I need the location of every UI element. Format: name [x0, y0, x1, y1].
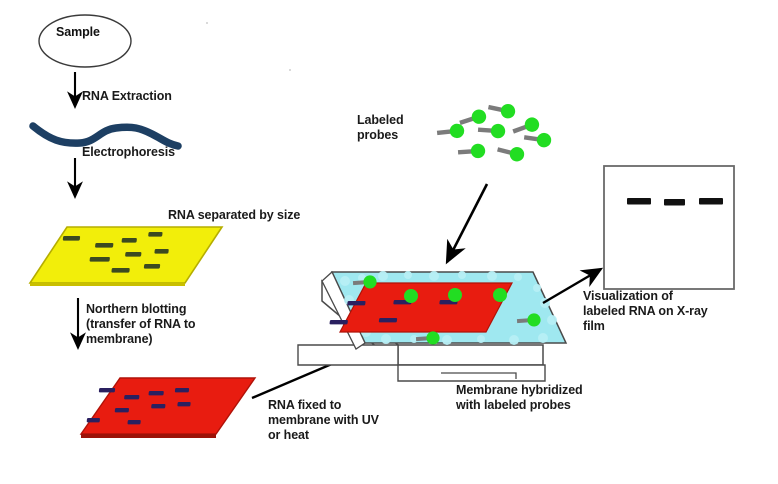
sample-label: Sample	[56, 25, 100, 40]
diagram-canvas: Sample RNA Extraction Electrophoresis RN…	[0, 0, 778, 484]
tray-membrane	[340, 283, 512, 332]
speckle-artifact	[289, 69, 291, 71]
rna-fixed-to-membrane-label: RNA fixed to membrane with UV or heat	[268, 398, 379, 442]
sample-ellipse-icon	[39, 15, 131, 67]
rna-strand-icon	[33, 126, 178, 146]
xray-film-bands	[627, 198, 723, 206]
labeled-probes-label: Labeled probes	[357, 113, 404, 143]
membrane-slab-icon	[81, 378, 255, 438]
speckle-artifact	[206, 22, 208, 24]
visualization-xray-label: Visualization of labeled RNA on X-ray fi…	[583, 289, 708, 333]
electrophoresis-label: Electrophoresis	[82, 145, 175, 160]
xray-film-icon	[604, 166, 734, 289]
northern-blotting-label: Northern blotting (transfer of RNA to me…	[86, 302, 195, 346]
membrane-hybridized-label: Membrane hybridized with labeled probes	[456, 383, 583, 413]
rna-extraction-label: RNA Extraction	[82, 89, 172, 104]
labeled-probes-icon	[436, 100, 552, 163]
arrow-icon-probes-to-tray	[447, 184, 487, 262]
hybridization-tray-icon	[298, 271, 566, 381]
diagram-graphics	[0, 0, 778, 484]
gel-slab-icon	[30, 227, 222, 286]
rna-separated-by-size-label: RNA separated by size	[168, 208, 300, 223]
